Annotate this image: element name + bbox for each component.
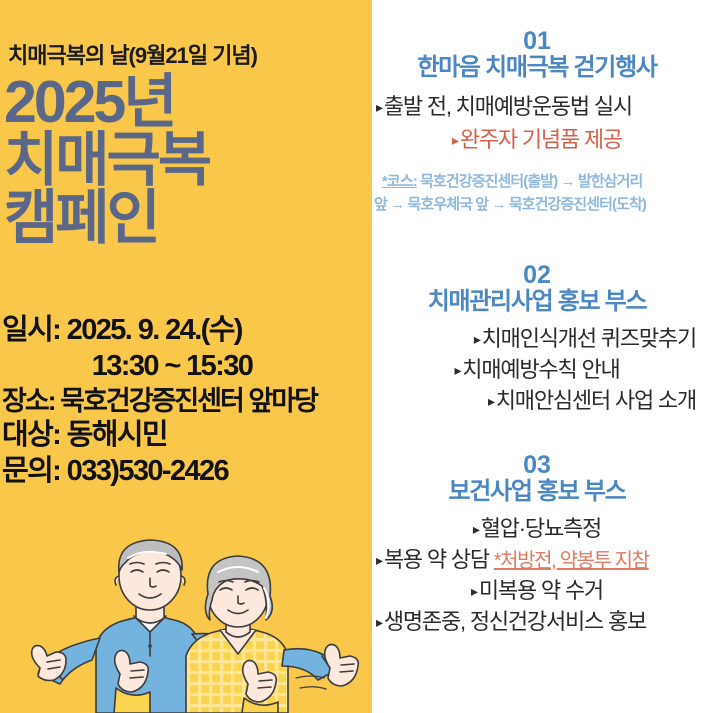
section-01-item-2: ▸완주자 기념품 제공 — [372, 124, 702, 155]
section-02-item-1-text: 치매인식개선 퀴즈맞추기 — [482, 326, 696, 351]
section-03-item-2-text: 복용 약 상담 — [384, 547, 494, 572]
section-02-item-3-text: 치매안심센터 사업 소개 — [496, 388, 696, 413]
left-info-panel: 치매극복의 날(9월21일 기념) 2025년 치매극복 캠페인 일시: 202… — [0, 0, 372, 713]
event-detail-date: 일시: 2025. 9. 24.(수) — [0, 313, 372, 349]
title-line-2: 치매극복 — [4, 132, 372, 190]
event-detail-time: 13:30 ~ 15:30 — [0, 349, 372, 385]
section-01-item-1-text: 출발 전, 치매예방운동법 실시 — [384, 94, 632, 119]
section-03-item-4-text: 생명존중, 정신건강서비스 홍보 — [384, 609, 646, 634]
section-01-item-2-text: 완주자 기념품 제공 — [460, 127, 622, 152]
bullet-icon: ▸ — [474, 331, 480, 347]
program-section-01: 01 한마음 치매극복 걷기행사 ▸출발 전, 치매예방운동법 실시 ▸완주자 … — [372, 28, 702, 216]
bullet-icon: ▸ — [376, 552, 382, 568]
bullet-icon: ▸ — [376, 99, 382, 115]
bullet-icon: ▸ — [473, 521, 479, 537]
section-02-item-3: ▸치매안심센터 사업 소개 — [372, 385, 702, 416]
section-02-item-2: ▸치매예방수칙 안내 — [372, 354, 702, 385]
program-section-02: 02 치매관리사업 홍보 부스 ▸치매인식개선 퀴즈맞추기 ▸치매예방수칙 안내… — [372, 262, 702, 416]
section-number-02: 02 — [372, 262, 702, 288]
section-02-item-2-text: 치매예방수칙 안내 — [462, 357, 619, 382]
event-detail-location: 장소: 묵호건강증진센터 앞마당 — [0, 385, 372, 418]
section-03-item-4: ▸생명존중, 정신건강서비스 홍보 — [372, 606, 702, 637]
section-title-01: 한마음 치매극복 걷기행사 — [372, 54, 702, 82]
campaign-poster: 치매극복의 날(9월21일 기념) 2025년 치매극복 캠페인 일시: 202… — [0, 0, 702, 713]
section-title-02: 치매관리사업 홍보 부스 — [372, 288, 702, 316]
section-02-item-1: ▸치매인식개선 퀴즈맞추기 — [372, 323, 702, 354]
bullet-icon: ▸ — [471, 583, 477, 599]
poster-main-title: 2025년 치매극복 캠페인 — [4, 74, 372, 247]
elderly-couple-illustration — [0, 528, 372, 713]
section-number-03: 03 — [372, 452, 702, 478]
section-03-item-2-highlight: *처방전, 약봉투 지참 — [494, 550, 649, 572]
event-detail-contact: 문의: 033)530-2426 — [0, 454, 372, 490]
course-text-1: 묵호건강증진센터(출발) → 발한삼거리 — [417, 173, 643, 190]
section-title-03: 보건사업 홍보 부스 — [372, 478, 702, 506]
section-number-01: 01 — [372, 28, 702, 54]
section-03-item-1: ▸혈압·당뇨측정 — [372, 513, 702, 544]
bullet-icon: ▸ — [376, 614, 382, 630]
event-detail-audience: 대상: 동해시민 — [0, 418, 372, 454]
program-section-03: 03 보건사업 홍보 부스 ▸혈압·당뇨측정 ▸복용 약 상담 *처방전, 약봉… — [372, 452, 702, 638]
program-panel: 01 한마음 치매극복 걷기행사 ▸출발 전, 치매예방운동법 실시 ▸완주자 … — [372, 0, 702, 713]
section-03-item-3: ▸미복용 약 수거 — [372, 575, 702, 606]
title-line-3: 캠페인 — [4, 190, 372, 248]
event-details-block: 일시: 2025. 9. 24.(수) 13:30 ~ 15:30 장소: 묵호… — [0, 313, 372, 490]
bullet-icon: ▸ — [452, 132, 458, 148]
course-label: *코스: — [382, 173, 417, 190]
bullet-icon: ▸ — [454, 362, 460, 378]
section-03-item-3-text: 미복용 약 수거 — [479, 578, 603, 603]
section-03-item-2: ▸복용 약 상담 *처방전, 약봉투 지참 — [372, 544, 702, 575]
section-01-course-line-1: *코스: 묵호건강증진센터(출발) → 발한삼거리 — [372, 171, 702, 194]
title-line-1: 2025년 — [4, 74, 372, 132]
section-01-course-line-2: 앞 → 묵호우체국 앞 → 묵호건강증진센터(도착) — [372, 194, 702, 217]
section-01-item-1: ▸출발 전, 치매예방운동법 실시 — [372, 91, 702, 122]
section-03-item-1-text: 혈압·당뇨측정 — [481, 516, 601, 541]
bullet-icon: ▸ — [488, 393, 494, 409]
poster-eyebrow: 치매극복의 날(9월21일 기념) — [8, 38, 368, 70]
